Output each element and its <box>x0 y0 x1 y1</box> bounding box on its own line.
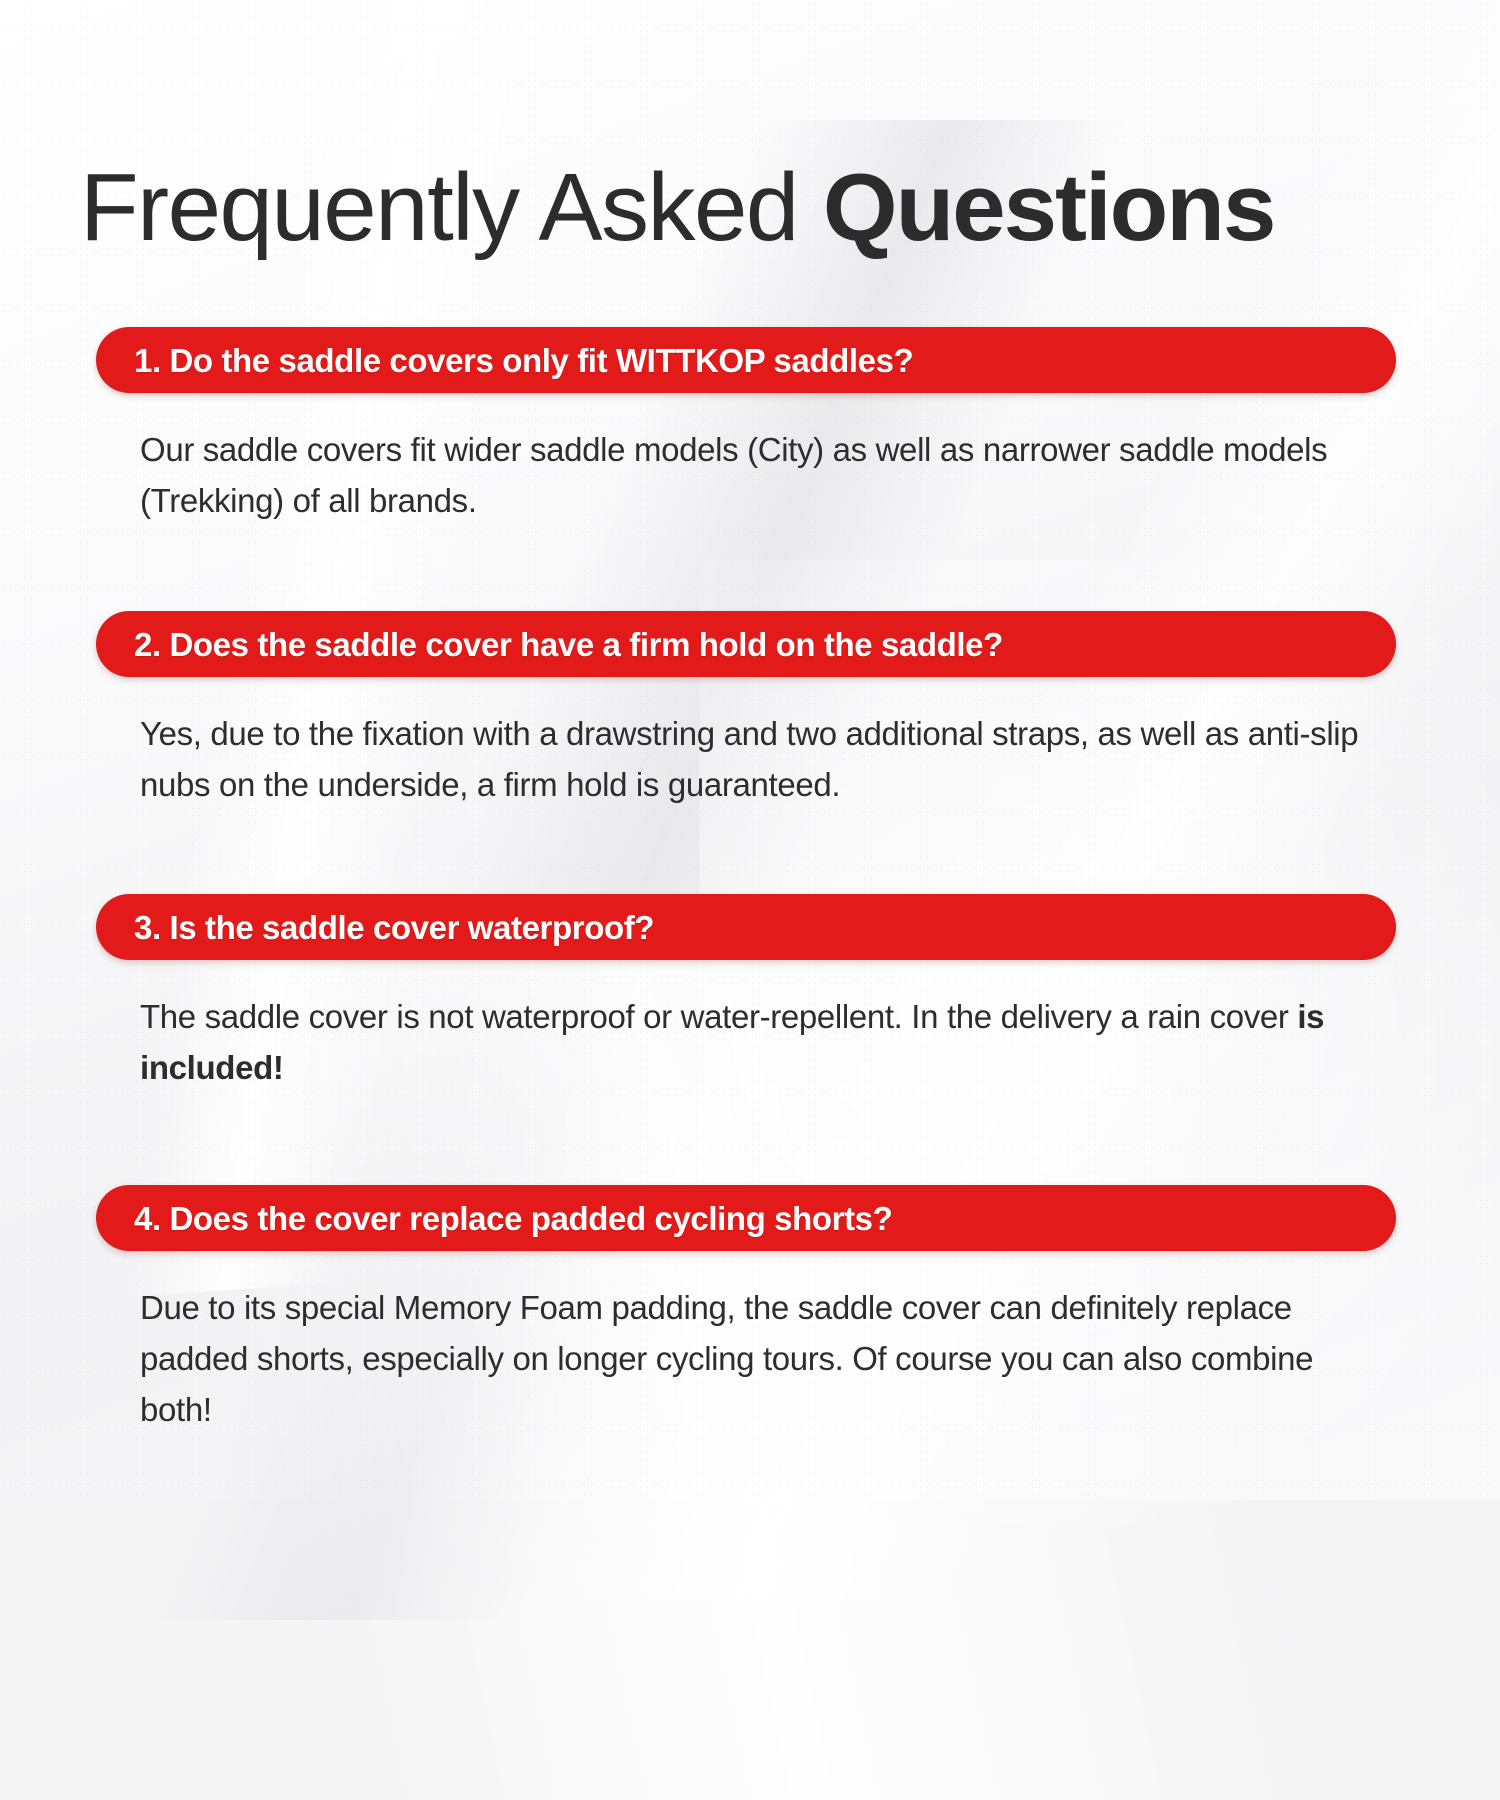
page-title-light: Frequently Asked <box>80 154 823 261</box>
faq-question-bar-3[interactable]: 3. Is the saddle cover waterproof? <box>96 894 1396 960</box>
faq-item-1: 1. Do the saddle covers only fit WITTKOP… <box>96 327 1396 526</box>
faq-item-3: 3. Is the saddle cover waterproof? The s… <box>96 894 1396 1093</box>
spacer-1 <box>96 526 1396 611</box>
faq-answer-3: The saddle cover is not waterproof or wa… <box>140 991 1370 1093</box>
faq-question-bar-1[interactable]: 1. Do the saddle covers only fit WITTKOP… <box>96 327 1396 393</box>
faq-answer-1: Our saddle covers fit wider saddle model… <box>140 424 1370 526</box>
spacer-3 <box>96 1093 1396 1185</box>
faq-item-2: 2. Does the saddle cover have a firm hol… <box>96 611 1396 810</box>
page-title: Frequently Asked Questions <box>80 160 1274 256</box>
faq-answer-1-part-1: Our saddle covers fit wider saddle model… <box>140 431 1327 519</box>
page-title-bold: Questions <box>823 154 1274 261</box>
faq-answer-2-part-1: Yes, due to the fixation with a drawstri… <box>140 715 1358 803</box>
faq-list: 1. Do the saddle covers only fit WITTKOP… <box>96 327 1396 1435</box>
faq-answer-4-part-1: Due to its special Memory Foam padding, … <box>140 1289 1313 1428</box>
faq-page: Frequently Asked Questions 1. Do the sad… <box>0 0 1500 1500</box>
faq-question-text-4: 4. Does the cover replace padded cycling… <box>134 1202 892 1235</box>
faq-answer-3-part-1: The saddle cover is not waterproof or wa… <box>140 998 1297 1035</box>
spacer-2 <box>96 810 1396 894</box>
faq-question-text-1: 1. Do the saddle covers only fit WITTKOP… <box>134 344 913 377</box>
faq-question-bar-2[interactable]: 2. Does the saddle cover have a firm hol… <box>96 611 1396 677</box>
faq-question-text-2: 2. Does the saddle cover have a firm hol… <box>134 628 1003 661</box>
faq-question-bar-4[interactable]: 4. Does the cover replace padded cycling… <box>96 1185 1396 1251</box>
faq-question-text-3: 3. Is the saddle cover waterproof? <box>134 911 654 944</box>
faq-answer-2: Yes, due to the fixation with a drawstri… <box>140 708 1370 810</box>
faq-item-4: 4. Does the cover replace padded cycling… <box>96 1185 1396 1435</box>
faq-answer-4: Due to its special Memory Foam padding, … <box>140 1282 1370 1435</box>
